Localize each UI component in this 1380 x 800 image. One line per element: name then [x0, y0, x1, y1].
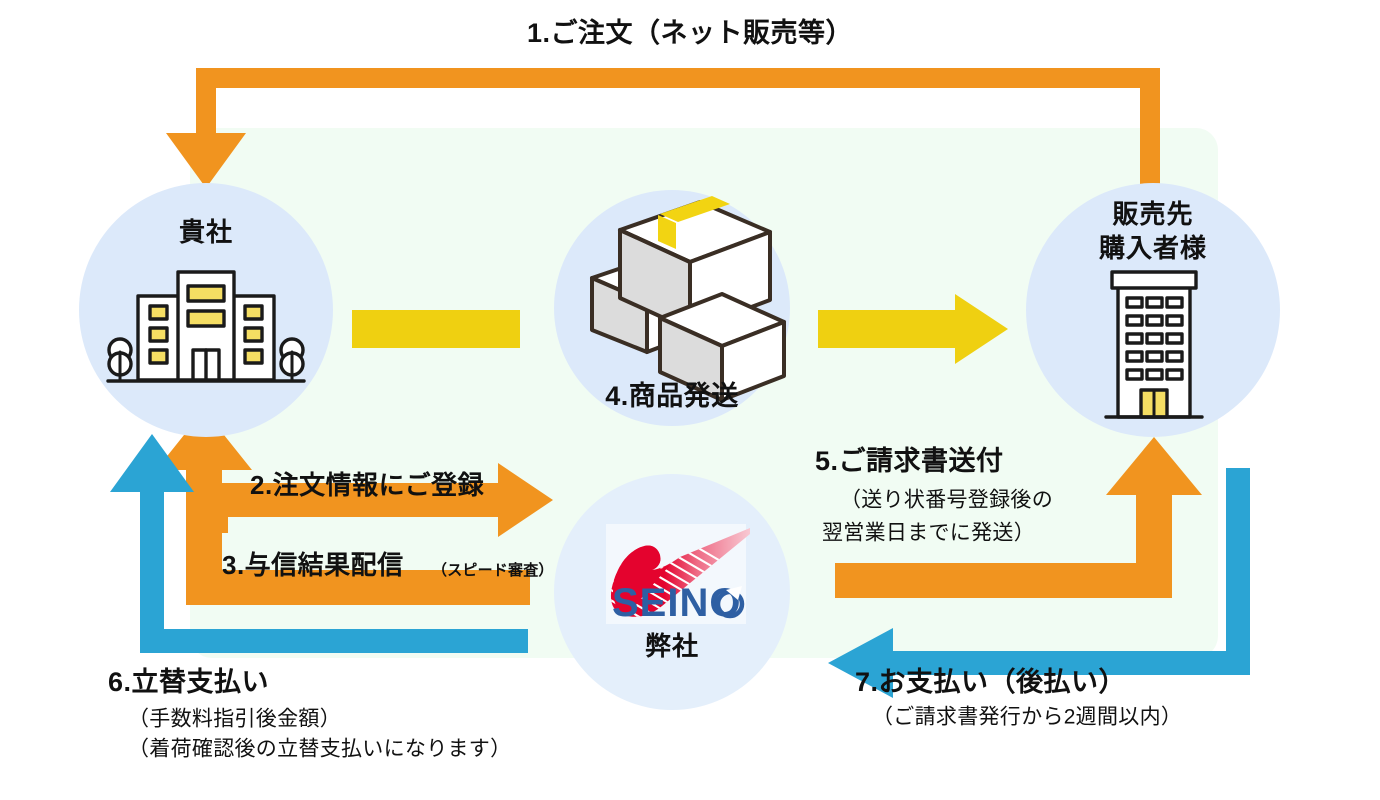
node-seino-label: 弊社 [645, 631, 699, 661]
node-buyer-label-line1: 販売先 [1112, 199, 1193, 229]
flow-diagram: 1.ご注文（ネット販売等） [0, 0, 1380, 800]
step-2-label: 2.注文情報にご登録 [250, 470, 485, 500]
step-5-sub-2: 翌営業日までに発送） [822, 522, 1035, 545]
node-kisha-label: 貴社 [179, 217, 233, 247]
step-4-arrow-left [352, 310, 520, 348]
node-seino: SEINO 弊社 [554, 474, 790, 710]
node-shipping-label: 4.商品発送 [605, 381, 739, 411]
step-7-label: 7.お支払い（後払い） [855, 667, 1126, 697]
step-3-note: （スピード審査） [432, 561, 554, 579]
step-6-sub-1: （手数料指引後金額） [128, 708, 341, 731]
tall-building-icon [1106, 272, 1202, 417]
node-buyer-label-line2: 購入者様 [1099, 233, 1207, 263]
step-5-sub-1: （送り状番号登録後の [840, 489, 1053, 512]
seino-wordmark: SEINO [612, 581, 741, 625]
step-1-label: 1.ご注文（ネット販売等） [527, 17, 853, 48]
step-6-sub-2: （着荷確認後の立替支払いになります） [128, 738, 511, 761]
flow-diagram-canvas: 1.ご注文（ネット販売等） [0, 0, 1380, 800]
step-3-label: 3.与信結果配信 [222, 550, 404, 580]
node-buyer: 販売先 購入者様 [1026, 183, 1280, 437]
step-5-label: 5.ご請求書送付 [815, 445, 1004, 476]
step-7-sub-1: （ご請求書発行から2週間以内） [872, 706, 1182, 729]
node-kisha: 貴社 [79, 183, 333, 437]
step-6-label: 6.立替支払い [108, 667, 269, 697]
